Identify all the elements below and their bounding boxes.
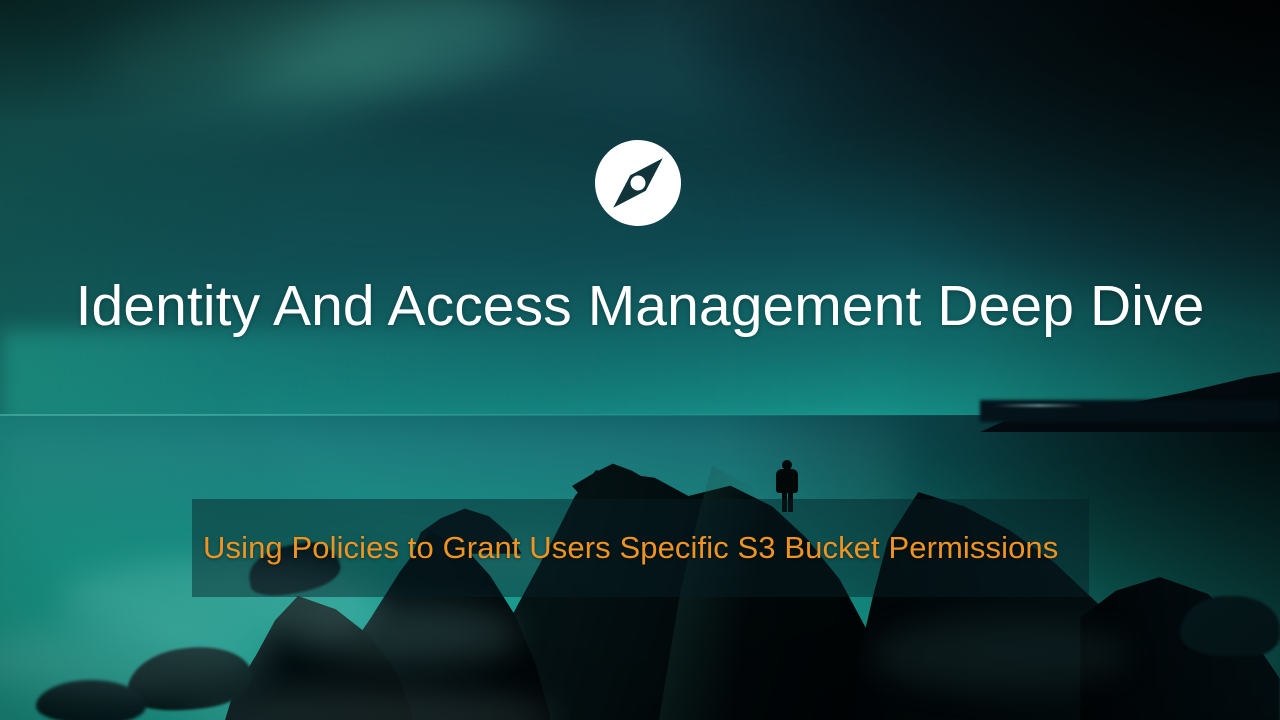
title-slide: Identity And Access Management Deep Dive… [0, 0, 1280, 720]
vignette-overlay [0, 0, 1280, 720]
compass-icon [595, 140, 681, 226]
subtitle-text: Using Policies to Grant Users Specific S… [192, 530, 1058, 566]
subtitle-panel: Using Policies to Grant Users Specific S… [192, 499, 1089, 597]
background-photo [0, 0, 1280, 720]
page-title: Identity And Access Management Deep Dive [0, 277, 1280, 337]
